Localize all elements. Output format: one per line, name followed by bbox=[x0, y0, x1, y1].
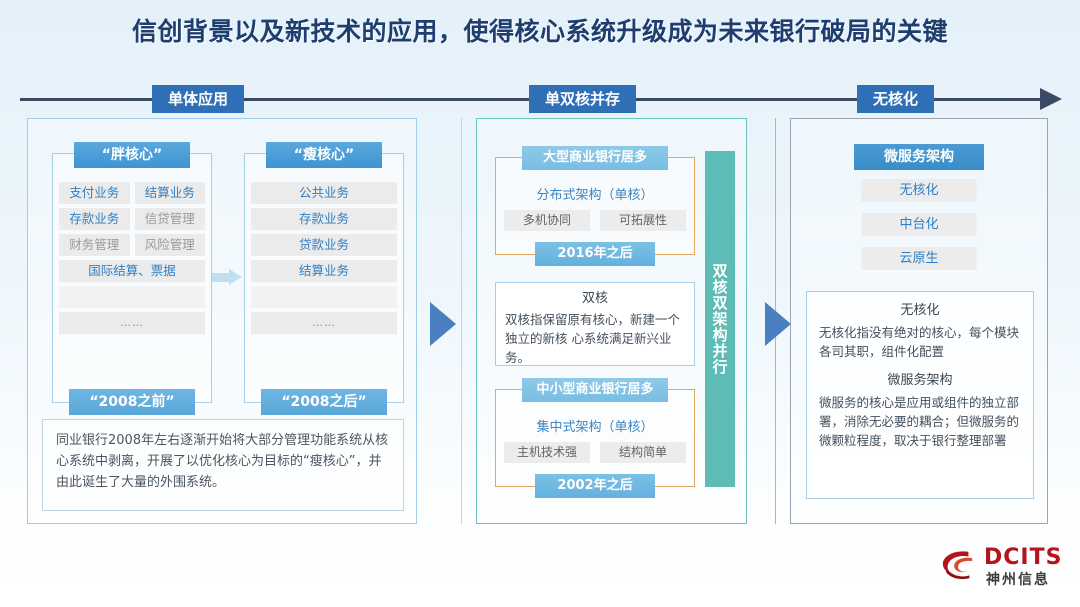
left-column-note: 同业银行2008年左右逐渐开始将大部分管理功能系统从核心系统中剥离，开展了以优化… bbox=[42, 419, 404, 511]
company-logo: DCITS 神州信息 bbox=[940, 543, 1062, 591]
mid-note-heading: 双核 bbox=[505, 289, 685, 308]
fat-core-cell-0-1: 结算业务 bbox=[135, 182, 206, 204]
fat-core-cell-2-0: 财务管理 bbox=[59, 234, 130, 256]
fat-core-cell-0-0: 支付业务 bbox=[59, 182, 130, 204]
panel-thin-core: “瘦核心” 公共业务存款业务贷款业务结算业务…… “2008之后” bbox=[244, 153, 404, 403]
box-large-bank: 大型商业银行居多 分布式架构（单核） 多机协同 可拓展性 2016年之后 bbox=[495, 157, 695, 255]
large-bank-subtitle: 分布式架构（单核） bbox=[496, 184, 694, 203]
fat-core-row: 国际结算、票据 bbox=[59, 260, 205, 282]
microservice-head: 微服务架构 bbox=[854, 144, 984, 170]
fat-core-title: “胖核心” bbox=[74, 142, 190, 168]
thin-core-cells: 公共业务存款业务贷款业务结算业务…… bbox=[245, 182, 403, 338]
large-bank-tags: 多机协同 可拓展性 bbox=[504, 210, 686, 231]
right-note-body-1: 无核化指没有绝对的核心，每个模块各司其职，组件化配置 bbox=[819, 323, 1021, 361]
thin-core-row: …… bbox=[251, 312, 397, 334]
column-dual-core: 大型商业银行居多 分布式架构（单核） 多机协同 可拓展性 2016年之后 双核 … bbox=[476, 118, 747, 524]
right-column-note: 无核化 无核化指没有绝对的核心，每个模块各司其职，组件化配置 微服务架构 微服务… bbox=[806, 291, 1034, 499]
timeline-chip-coreless[interactable]: 无核化 bbox=[857, 85, 934, 113]
core-transition-arrow-icon bbox=[212, 269, 242, 285]
fat-core-row: 支付业务结算业务 bbox=[59, 182, 205, 204]
fat-core-cells: 支付业务结算业务存款业务信贷管理财务管理风险管理国际结算、票据…… bbox=[53, 182, 211, 338]
thin-core-cell-2-0: 贷款业务 bbox=[251, 234, 397, 256]
box-small-bank: 中小型商业银行居多 集中式架构（单核） 主机技术强 结构简单 2002年之后 bbox=[495, 389, 695, 487]
right-note-body-2: 微服务的核心是应用或组件的独立部署，消除无必要的耦合；但微服务的微颗粒程度，取决… bbox=[819, 393, 1021, 450]
large-bank-title: 大型商业银行居多 bbox=[522, 146, 668, 170]
stage-arrow-icon-2 bbox=[765, 302, 791, 346]
column-coreless: 微服务架构 无核化 中台化 云原生 无核化 无核化指没有绝对的核心，每个模块各司… bbox=[790, 118, 1048, 524]
thin-core-cell-1-0: 存款业务 bbox=[251, 208, 397, 230]
fat-core-cell-3-0: 国际结算、票据 bbox=[59, 260, 205, 282]
timeline: 单体应用 单双核并存 无核化 bbox=[0, 85, 1080, 115]
logo-brand-text: DCITS bbox=[984, 545, 1062, 570]
small-bank-footer: 2002年之后 bbox=[535, 474, 655, 498]
timeline-arrow-icon bbox=[1040, 88, 1062, 110]
dual-core-vertical-label: 双核双架构并行 bbox=[705, 151, 735, 487]
fat-core-footer: “2008之前” bbox=[69, 389, 195, 415]
thin-core-row bbox=[251, 286, 397, 308]
large-bank-tag-1: 可拓展性 bbox=[600, 210, 686, 231]
thin-core-row: 结算业务 bbox=[251, 260, 397, 282]
microservice-item-0: 无核化 bbox=[862, 179, 977, 202]
mid-note-body: 双核指保留原有核心，新建一个独立的新核 心系统满足新兴业务。 bbox=[505, 310, 685, 367]
microservice-item-2: 云原生 bbox=[862, 247, 977, 270]
timeline-chip-dual-core[interactable]: 单双核并存 bbox=[529, 85, 636, 113]
column-divider-1 bbox=[461, 118, 462, 524]
small-bank-subtitle: 集中式架构（单核） bbox=[496, 416, 694, 435]
fat-core-row: …… bbox=[59, 312, 205, 334]
small-bank-title: 中小型商业银行居多 bbox=[522, 378, 668, 402]
fat-core-cell-5-0: …… bbox=[59, 312, 205, 334]
right-note-heading-2: 微服务架构 bbox=[819, 371, 1021, 390]
fat-core-cell-2-1: 风险管理 bbox=[135, 234, 206, 256]
thin-core-cell-4-0 bbox=[251, 286, 397, 308]
thin-core-title: “瘦核心” bbox=[266, 142, 382, 168]
logo-cn-text: 神州信息 bbox=[986, 569, 1050, 589]
right-note-heading-1: 无核化 bbox=[819, 301, 1021, 320]
fat-core-row: 财务管理风险管理 bbox=[59, 234, 205, 256]
small-bank-tags: 主机技术强 结构简单 bbox=[504, 442, 686, 463]
large-bank-footer: 2016年之后 bbox=[535, 242, 655, 266]
thin-core-cell-0-0: 公共业务 bbox=[251, 182, 397, 204]
large-bank-tag-0: 多机协同 bbox=[504, 210, 590, 231]
small-bank-tag-1: 结构简单 bbox=[600, 442, 686, 463]
thin-core-cell-5-0: …… bbox=[251, 312, 397, 334]
thin-core-footer: “2008之后” bbox=[261, 389, 387, 415]
microservice-item-1: 中台化 bbox=[862, 213, 977, 236]
stage-arrow-icon-1 bbox=[430, 302, 456, 346]
fat-core-cell-1-0: 存款业务 bbox=[59, 208, 130, 230]
fat-core-cell-4-0 bbox=[59, 286, 205, 308]
fat-core-cell-1-1: 信贷管理 bbox=[135, 208, 206, 230]
column-single-app: “胖核心” 支付业务结算业务存款业务信贷管理财务管理风险管理国际结算、票据…… … bbox=[27, 118, 417, 524]
thin-core-cell-3-0: 结算业务 bbox=[251, 260, 397, 282]
page-title: 信创背景以及新技术的应用，使得核心系统升级成为未来银行破局的关键 bbox=[0, 12, 1080, 48]
mid-column-note: 双核 双核指保留原有核心，新建一个独立的新核 心系统满足新兴业务。 bbox=[495, 282, 695, 366]
thin-core-row: 存款业务 bbox=[251, 208, 397, 230]
fat-core-row bbox=[59, 286, 205, 308]
small-bank-tag-0: 主机技术强 bbox=[504, 442, 590, 463]
timeline-chip-single-app[interactable]: 单体应用 bbox=[152, 85, 244, 113]
thin-core-row: 贷款业务 bbox=[251, 234, 397, 256]
panel-fat-core: “胖核心” 支付业务结算业务存款业务信贷管理财务管理风险管理国际结算、票据…… … bbox=[52, 153, 212, 403]
dcits-swirl-icon bbox=[940, 547, 978, 581]
thin-core-row: 公共业务 bbox=[251, 182, 397, 204]
fat-core-row: 存款业务信贷管理 bbox=[59, 208, 205, 230]
